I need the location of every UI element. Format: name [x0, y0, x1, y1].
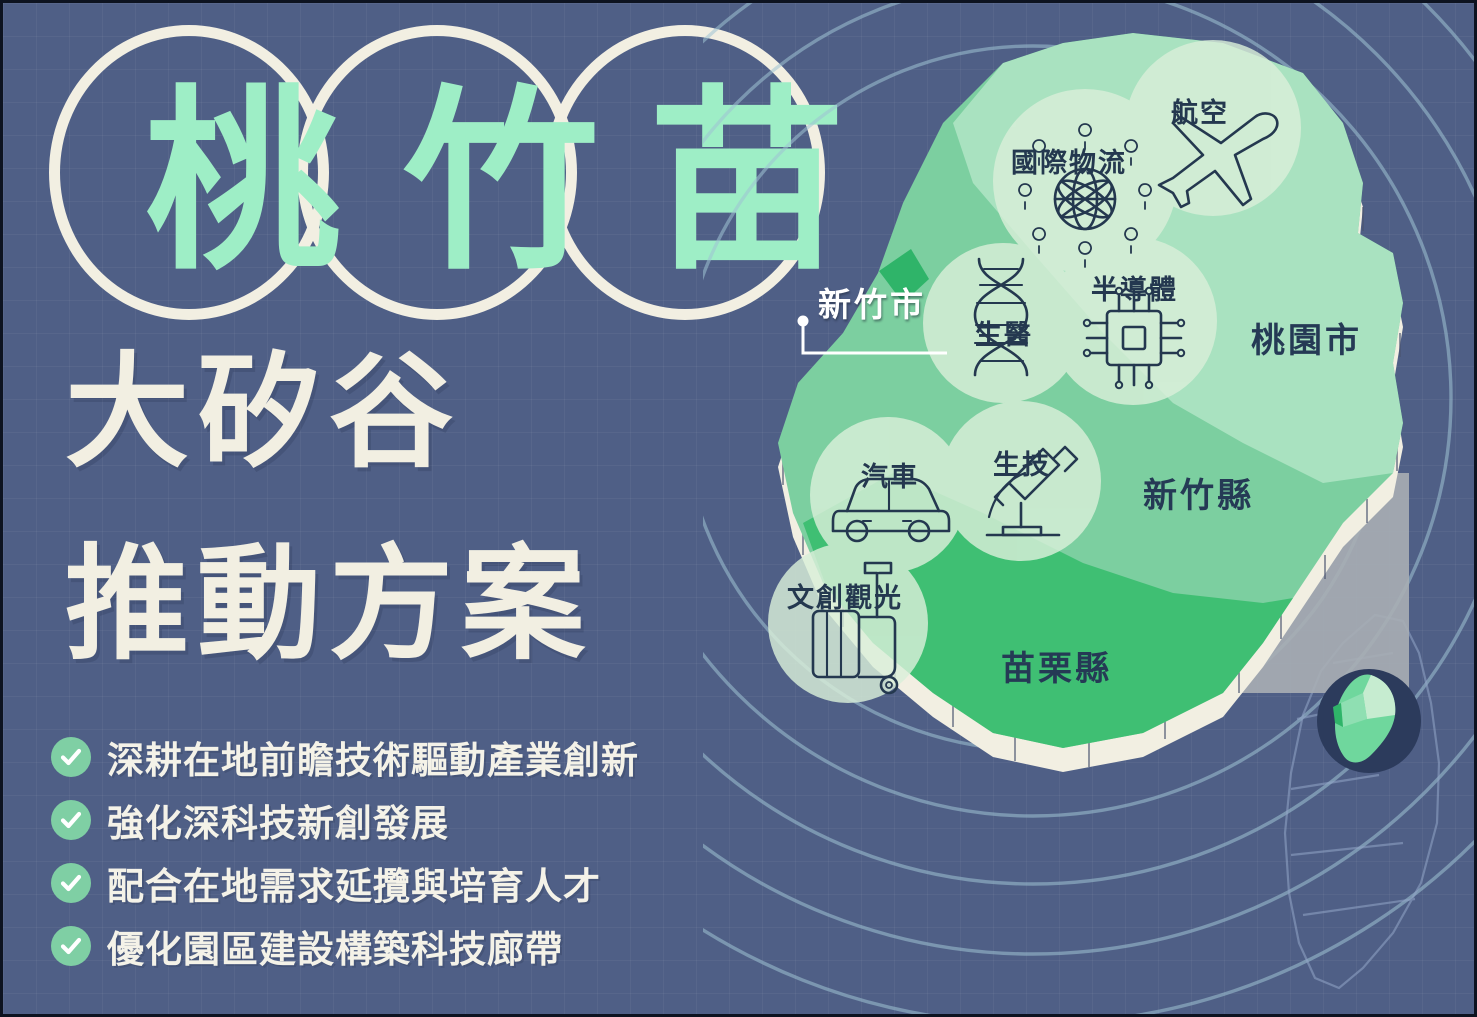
bullet-list: 深耕在地前瞻技術驅動產業創新 強化深科技新創發展 配合在地需求延攬與培育人才 優…: [51, 733, 751, 985]
list-item: 配合在地需求延攬與培育人才: [51, 859, 751, 907]
poster: 桃 竹 苗 大矽谷 推動方案 深耕在地前瞻技術驅動產業創新 強化深科技新創發展: [0, 0, 1477, 1017]
check-icon: [51, 863, 91, 903]
headline-line-1: 大矽谷: [65, 351, 461, 475]
taiwan-locator-inset: [1317, 669, 1421, 773]
title-panel: 桃 竹 苗 大矽谷 推動方案 深耕在地前瞻技術驅動產業創新 強化深科技新創發展: [3, 3, 763, 1017]
list-item: 優化園區建設構築科技廊帶: [51, 922, 751, 970]
check-icon: [51, 737, 91, 777]
map-svg: [703, 3, 1477, 1017]
badge-char-2: 竹: [403, 85, 599, 281]
headline-line-2: 推動方案: [65, 543, 593, 667]
list-item: 深耕在地前瞻技術驅動產業創新: [51, 733, 751, 781]
bullet-text: 優化園區建設構築科技廊帶: [107, 919, 563, 973]
bubble-biotech: [941, 401, 1101, 561]
bubble-tourism: [768, 543, 928, 703]
check-icon: [51, 926, 91, 966]
bubble-biomedical: [923, 243, 1083, 403]
list-item: 強化深科技新創發展: [51, 796, 751, 844]
badge-char-1: 桃: [145, 85, 341, 281]
bullet-text: 深耕在地前瞻技術驅動產業創新: [107, 730, 639, 784]
map-panel: 桃園市 新竹縣 苗栗縣 新竹市 航空 國際物流 半導體 生醫 生技 汽車 文創觀…: [703, 3, 1477, 1017]
check-icon: [51, 800, 91, 840]
bullet-text: 配合在地需求延攬與培育人才: [107, 856, 601, 910]
bullet-text: 強化深科技新創發展: [107, 793, 449, 847]
